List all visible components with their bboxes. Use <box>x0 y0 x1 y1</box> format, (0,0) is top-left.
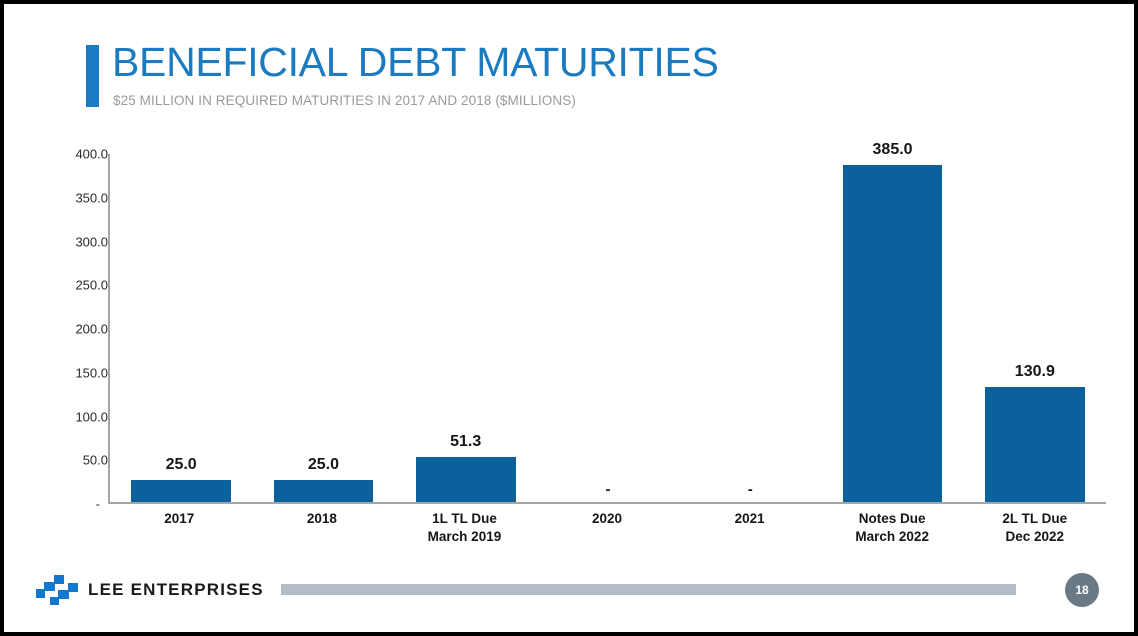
y-axis-tick-label: 200.0 <box>40 322 108 337</box>
y-axis-tick-label: 250.0 <box>40 278 108 293</box>
x-axis-tick-label: 1L TL DueMarch 2019 <box>393 510 536 546</box>
brand-logo: LEE ENTERPRISES <box>34 572 264 608</box>
slide-header: BENEFICIAL DEBT MATURITIES $25 MILLION I… <box>86 42 1086 114</box>
brand-name: LEE ENTERPRISES <box>88 580 264 600</box>
y-axis-tick-label: 400.0 <box>40 147 108 162</box>
y-axis-tick-label: 50.0 <box>40 453 108 468</box>
bar-value-label: 385.0 <box>821 141 963 159</box>
bar-value-label: - <box>679 481 821 498</box>
y-axis-tick-label: 300.0 <box>40 234 108 249</box>
bar-value-label: 25.0 <box>110 456 252 474</box>
bar[interactable] <box>416 457 516 502</box>
y-axis-tick-label: 350.0 <box>40 190 108 205</box>
y-axis-tick-label: - <box>40 497 108 512</box>
bar-value-label: 51.3 <box>395 433 537 451</box>
bar[interactable] <box>985 387 1085 502</box>
bars-row: 25.025.051.3--385.0130.9 <box>110 154 1106 502</box>
x-axis-tick-label: Notes DueMarch 2022 <box>821 510 964 546</box>
bar-chart: 400.0350.0300.0250.0200.0150.0100.050.0-… <box>40 154 1106 554</box>
bar-value-label: - <box>537 481 679 498</box>
slide-footer: LEE ENTERPRISES 18 <box>4 566 1138 618</box>
x-axis-tick-label: 2018 <box>251 510 394 546</box>
y-axis: 400.0350.0300.0250.0200.0150.0100.050.0- <box>40 154 108 504</box>
bar-group[interactable]: 51.3 <box>395 154 537 502</box>
x-axis-tick-label: 2017 <box>108 510 251 546</box>
plot-area: 25.025.051.3--385.0130.9 <box>108 154 1106 504</box>
x-axis-tick-label: 2020 <box>536 510 679 546</box>
bar[interactable] <box>274 480 374 502</box>
x-axis-tick-label: 2L TL DueDec 2022 <box>963 510 1106 546</box>
bar-group[interactable]: 130.9 <box>964 154 1106 502</box>
x-axis-tick-label: 2021 <box>678 510 821 546</box>
bar-group[interactable]: 25.0 <box>252 154 394 502</box>
footer-divider <box>281 584 1016 595</box>
page-title: BENEFICIAL DEBT MATURITIES <box>112 36 719 88</box>
page-number-badge: 18 <box>1065 573 1099 607</box>
slide-frame: BENEFICIAL DEBT MATURITIES $25 MILLION I… <box>0 0 1138 636</box>
bar-group[interactable]: 25.0 <box>110 154 252 502</box>
bar-group[interactable]: 385.0 <box>821 154 963 502</box>
title-accent-bar <box>86 45 99 107</box>
bar-group[interactable]: - <box>537 154 679 502</box>
y-axis-tick-label: 150.0 <box>40 365 108 380</box>
y-axis-tick-label: 100.0 <box>40 409 108 424</box>
lee-enterprises-logo-icon <box>34 573 86 607</box>
bar[interactable] <box>843 165 943 502</box>
bar[interactable] <box>131 480 231 502</box>
x-axis: 201720181L TL DueMarch 201920202021Notes… <box>108 510 1106 546</box>
bar-value-label: 130.9 <box>964 363 1106 381</box>
bar-value-label: 25.0 <box>252 456 394 474</box>
page-subtitle: $25 MILLION IN REQUIRED MATURITIES IN 20… <box>113 92 576 110</box>
bar-group[interactable]: - <box>679 154 821 502</box>
